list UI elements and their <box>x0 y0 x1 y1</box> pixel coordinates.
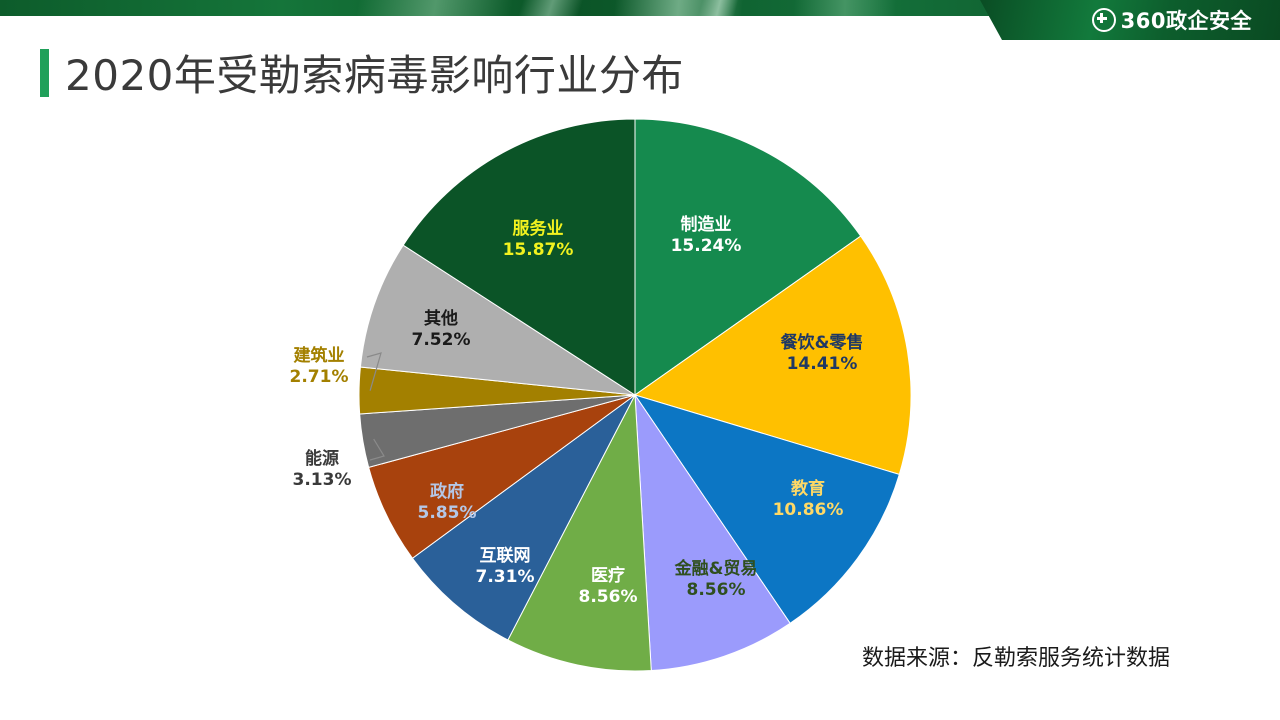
page-title: 2020年受勒索病毒影响行业分布 <box>65 42 684 103</box>
pie-chart: 制造业15.24%餐饮&零售14.41%教育10.86%金融&贸易8.56%医疗… <box>0 100 1280 720</box>
brand-logo: 360政企安全 <box>1092 5 1252 35</box>
brand-logo-text: 360政企安全 <box>1121 5 1252 35</box>
banner-sheen-streak <box>510 0 589 16</box>
pie-chart-svg <box>0 100 1280 720</box>
plus-circle-icon <box>1092 8 1116 32</box>
data-source-note: 数据来源：反勒索服务统计数据 <box>862 640 1170 672</box>
pie-slice-group <box>359 119 911 671</box>
brand-logo-tab: 360政企安全 <box>980 0 1280 40</box>
banner-sheen-streak <box>693 0 744 16</box>
title-row: 2020年受勒索病毒影响行业分布 <box>40 42 684 103</box>
title-accent-bar <box>40 49 49 97</box>
